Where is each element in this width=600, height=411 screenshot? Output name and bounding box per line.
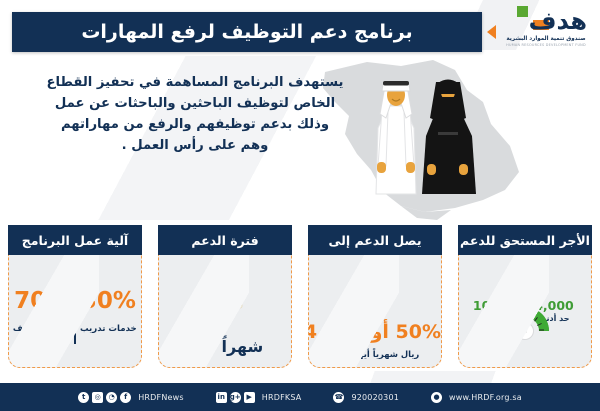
mechanism-split: 70% دعم للتوظيف 30% خدمات تدريب xyxy=(9,255,141,367)
footer-group-social-news: t ◎ ◔ f HRDFNews xyxy=(78,392,184,403)
panel-body: 70% دعم للتوظيف 30% خدمات تدريب xyxy=(8,255,142,368)
saudi-man-thobe-illustration xyxy=(376,81,416,194)
page-title: برنامج دعم التوظيف لرفع المهارات xyxy=(81,21,412,43)
banknotes-icon xyxy=(347,269,403,309)
saudi-woman-abaya-illustration xyxy=(422,80,476,195)
employment-label: دعم للتوظيف xyxy=(9,324,74,334)
footer-handle-ksa: HRDFKSA xyxy=(262,393,302,402)
calendar-icon-wrap xyxy=(159,273,291,311)
training-percent: 30% xyxy=(76,288,141,314)
chevron-left-icon xyxy=(487,25,496,39)
panel-support-amount: يصل الدعم إلى 50% أو 4,000 ريال شهري xyxy=(300,220,450,372)
hrdf-logo[interactable]: هدف صندوق تنمية الموارد البشرية HUMAN RE… xyxy=(500,6,592,52)
panel-support-period: فترة الدعم xyxy=(150,220,300,372)
stats-panels: آلية عمل البرنامج 70% دعم للتوظيف 30% خد… xyxy=(0,220,600,380)
training-label: خدمات تدريب xyxy=(76,324,141,334)
gauge-icon xyxy=(496,299,554,341)
footer-bar: t ◎ ◔ f HRDFNews in g+ ▶ HRDFKSA ☎ 92002… xyxy=(0,383,600,411)
panel-title: يصل الدعم إلى xyxy=(308,225,442,255)
calendar-icon xyxy=(205,273,245,311)
google-plus-icon[interactable]: g+ xyxy=(230,392,241,403)
footer-group-phone: ☎ 920020301 xyxy=(333,392,399,403)
panel-title: فترة الدعم xyxy=(158,225,292,255)
globe-icon[interactable]: ● xyxy=(431,392,442,403)
period-number: 36 xyxy=(187,333,216,357)
panel-body: 50% أو 4,000 ريال شهرياً أيهما أقل xyxy=(308,255,442,368)
logo-mark: هدف xyxy=(503,6,589,36)
logo-subtitle-english: HUMAN RESOURCES DEVELOPMENT FUND xyxy=(506,43,586,47)
footer-group-social-ksa: in g+ ▶ HRDFKSA xyxy=(216,392,302,403)
hero-description: يستهدف البرنامج المساهمة في تحفيز القطاع… xyxy=(45,72,345,156)
amount-note: ريال شهرياً أيهما أقل xyxy=(309,349,441,359)
panel-body: شهراً 36 xyxy=(158,255,292,368)
logo-subtitle-arabic: صندوق تنمية الموارد البشرية xyxy=(506,36,585,43)
footer-group-website: ● www.HRDF.org.sa xyxy=(431,392,522,403)
banknotes-icon-wrap xyxy=(309,269,441,309)
twitter-icon[interactable]: t xyxy=(78,392,89,403)
header-bar: برنامج دعم التوظيف لرفع المهارات xyxy=(12,12,482,52)
employment-percent: 70% xyxy=(9,288,74,314)
mechanism-part-training: 30% خدمات تدريب xyxy=(76,288,141,334)
amount-value: 50% أو 4,000 xyxy=(309,321,441,343)
gauge-icon-wrap xyxy=(459,299,591,341)
people-illustration xyxy=(352,70,502,210)
panel-body: 4,000 حد أدنى 10,000 حد أعلى xyxy=(458,255,592,368)
logo-green-square-icon xyxy=(517,6,528,17)
vertical-divider xyxy=(74,278,75,344)
mechanism-part-employment: 70% دعم للتوظيف xyxy=(9,288,74,334)
phone-icon[interactable]: ☎ xyxy=(333,392,344,403)
panel-title: آلية عمل البرنامج xyxy=(8,225,142,255)
panel-program-mechanism: آلية عمل البرنامج 70% دعم للتوظيف 30% خد… xyxy=(0,220,150,372)
infographic-page: برنامج دعم التوظيف لرفع المهارات هدف صند… xyxy=(0,0,600,411)
footer-website-url[interactable]: www.HRDF.org.sa xyxy=(449,393,522,402)
period-unit: شهراً xyxy=(222,337,264,356)
linkedin-icon[interactable]: in xyxy=(216,392,227,403)
footer-phone-number: 920020301 xyxy=(351,393,399,402)
hero-section: يستهدف البرنامج المساهمة في تحفيز القطاع… xyxy=(0,56,600,220)
panel-title: الأجر المستحق للدعم xyxy=(458,225,592,255)
youtube-icon[interactable]: ▶ xyxy=(244,392,255,403)
panel-eligible-wage: الأجر المستحق للدعم 4,000 حد أدنى 10,000… xyxy=(450,220,600,372)
facebook-icon[interactable]: f xyxy=(120,392,131,403)
snapchat-icon[interactable]: ◔ xyxy=(106,392,117,403)
footer-fade-decoration xyxy=(0,371,600,383)
logo-wordmark: هدف xyxy=(529,8,587,34)
period-value-line: شهراً 36 xyxy=(159,333,291,357)
instagram-icon[interactable]: ◎ xyxy=(92,392,103,403)
footer-handle-news: HRDFNews xyxy=(138,393,184,402)
